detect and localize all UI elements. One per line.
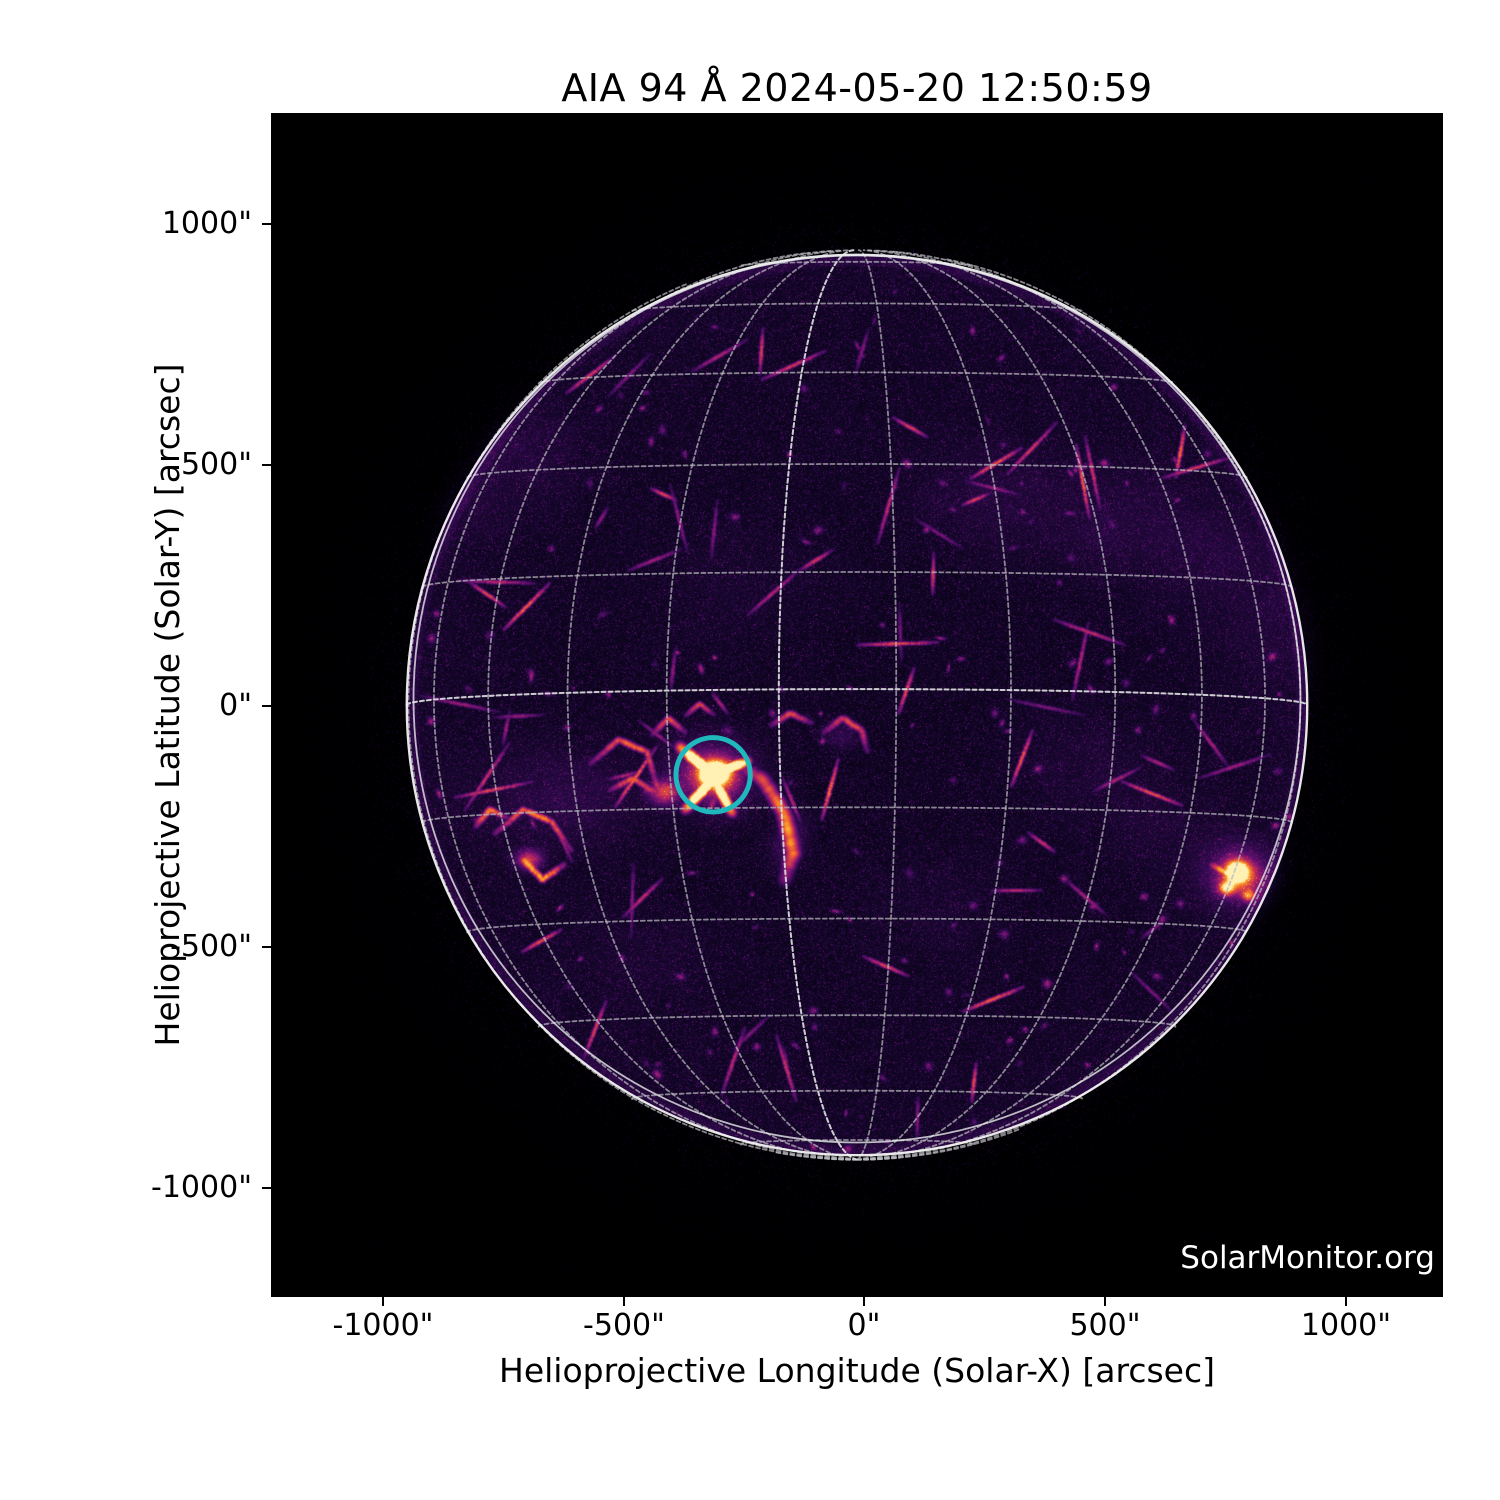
x-tick-mark (1345, 1297, 1347, 1306)
y-tick-mark (262, 223, 271, 225)
x-axis-label: Helioprojective Longitude (Solar-X) [arc… (271, 1352, 1443, 1390)
page-title: AIA 94 Å 2024-05-20 12:50:59 (271, 66, 1443, 110)
x-tick-label: 1000" (1301, 1309, 1391, 1343)
x-tick-mark (1104, 1297, 1106, 1306)
x-tick-label: 0" (848, 1309, 881, 1343)
x-tick-mark (382, 1297, 384, 1306)
x-tick-label: 500" (1069, 1309, 1140, 1343)
x-tick-mark (863, 1297, 865, 1306)
x-tick-label: -500" (583, 1309, 665, 1343)
x-tick-label: -1000" (333, 1309, 434, 1343)
y-tick-mark (262, 1187, 271, 1189)
y-tick-mark (262, 705, 271, 707)
solar-image-figure: AIA 94 Å 2024-05-20 12:50:59 SolarMonito… (0, 0, 1500, 1500)
x-tick-mark (623, 1297, 625, 1306)
y-tick-label: 500" (181, 448, 252, 482)
y-axis-label: Helioprojective Latitude (Solar-Y) [arcs… (148, 113, 188, 1297)
watermark-label: SolarMonitor.org (1180, 1241, 1435, 1275)
y-tick-mark (262, 946, 271, 948)
solar-limb-circle (407, 255, 1307, 1155)
heliographic-grid-overlay (271, 113, 1443, 1297)
y-tick-label: 0" (219, 689, 252, 723)
solar-image-axes[interactable]: SolarMonitor.org (271, 113, 1443, 1297)
flare-highlight-circle[interactable] (676, 738, 750, 812)
y-tick-mark (262, 464, 271, 466)
